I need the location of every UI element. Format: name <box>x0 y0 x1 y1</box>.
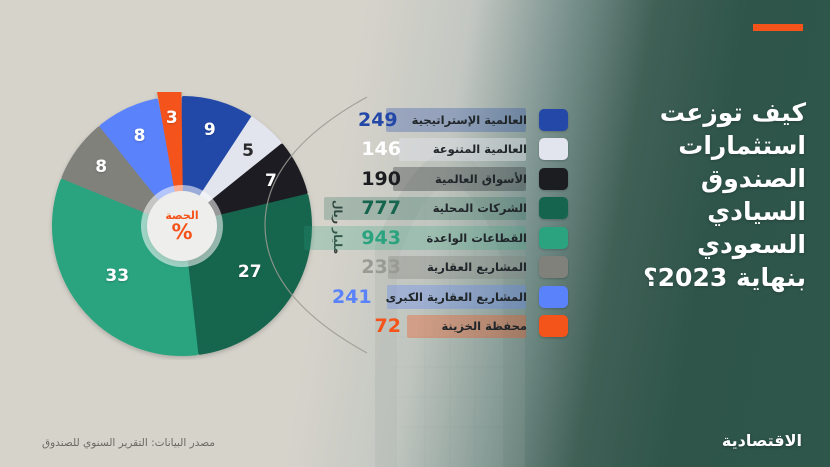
legend-category-label: العالمية الإستراتيجية <box>412 113 527 127</box>
legend-row[interactable]: محفظة الخزينة72 <box>288 312 568 342</box>
legend-category-label: العالمية المتنوعة <box>415 142 527 156</box>
legend-row[interactable]: العالمية المتنوعة146 <box>288 135 568 165</box>
legend-color-swatch <box>539 138 568 160</box>
legend-value: 233 <box>361 256 401 278</box>
donut-center-hub: الحصة % <box>147 191 217 261</box>
legend-color-swatch <box>539 197 568 219</box>
legend-category-label: المشاريع العقارية <box>415 260 527 274</box>
legend-category-label: القطاعات الواعدة <box>415 231 527 245</box>
legend-value: 777 <box>361 197 401 219</box>
legend-category-label: الشركات المحلية <box>415 201 527 215</box>
brand-logo: الاقتصادية <box>722 431 802 450</box>
legend-color-swatch <box>539 227 568 249</box>
page-title-line-1: استثمارات <box>610 129 806 162</box>
infographic-canvas: 9572733883 الحصة % مليار ريال العالمية ا… <box>0 0 830 467</box>
legend-list: العالمية الإستراتيجية249العالمية المتنوع… <box>288 105 568 341</box>
legend-row[interactable]: الشركات المحلية777 <box>288 194 568 224</box>
hub-label: الحصة <box>165 210 198 221</box>
page-title-line-2: الصندوق <box>610 162 806 195</box>
legend-color-swatch <box>539 256 568 278</box>
legend-value: 943 <box>361 227 401 249</box>
legend-color-swatch <box>539 109 568 131</box>
accent-bar <box>753 24 803 31</box>
legend-color-swatch <box>539 286 568 308</box>
legend-row[interactable]: الأسواق العالمية190 <box>288 164 568 194</box>
page-title: كيف توزعتاستثماراتالصندوقالسياديالسعوديب… <box>610 96 806 294</box>
page-title-line-5: بنهاية 2023؟ <box>610 261 806 294</box>
legend-category-label: محفظة الخزينة <box>415 319 527 333</box>
legend-color-swatch <box>539 315 568 337</box>
legend-color-swatch <box>539 168 568 190</box>
legend-value: 190 <box>361 168 401 190</box>
legend-row[interactable]: المشاريع العقارية233 <box>288 253 568 283</box>
page-title-line-3: السيادي <box>610 195 806 228</box>
legend-value: 241 <box>332 286 372 308</box>
page-title-line-4: السعودي <box>610 228 806 261</box>
legend-value: 146 <box>361 138 401 160</box>
legend-row[interactable]: القطاعات الواعدة943 <box>288 223 568 253</box>
legend-category-label: الأسواق العالمية <box>415 172 527 186</box>
legend-category-label: المشاريع العقارية الكبرى <box>386 290 527 304</box>
page-title-line-0: كيف توزعت <box>610 96 806 129</box>
data-source-note: مصدر البيانات: التقرير السنوي للصندوق <box>42 437 215 449</box>
legend-row[interactable]: العالمية الإستراتيجية249 <box>288 105 568 135</box>
legend-value: 249 <box>358 109 398 131</box>
legend-row[interactable]: المشاريع العقارية الكبرى241 <box>288 282 568 312</box>
legend-value: 72 <box>375 315 401 337</box>
hub-percent-symbol: % <box>171 222 192 243</box>
